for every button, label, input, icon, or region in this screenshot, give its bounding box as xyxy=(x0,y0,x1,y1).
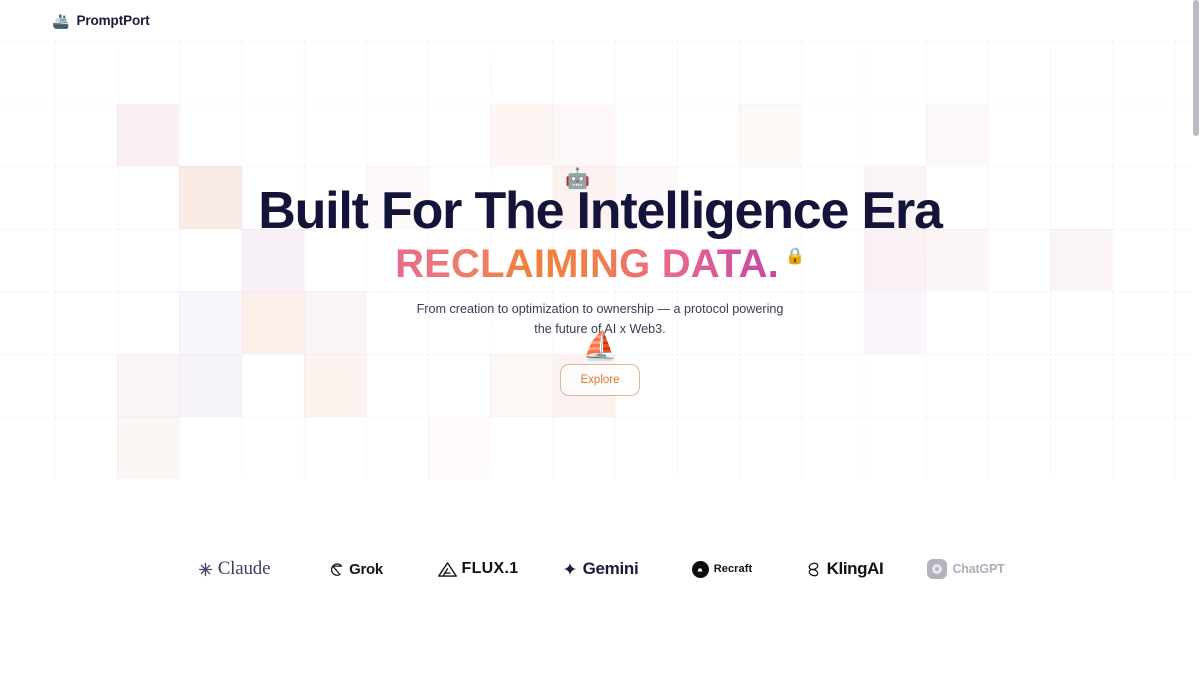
sailboat-icon: ⛵ xyxy=(583,332,618,360)
logo-label-kling: KlingAI xyxy=(827,559,884,579)
logo-label-chatgpt: ChatGPT xyxy=(952,562,1004,576)
page-subtitle-gradient: RECLAIMING DATA. xyxy=(395,243,779,285)
headline-primary-wrap: Built For The Intelligence Era 🤖 xyxy=(258,185,941,237)
robot-icon: 🤖 xyxy=(565,169,590,189)
site-header: 🚢 PromptPort xyxy=(0,0,1200,41)
gemini-sparkle-icon xyxy=(562,561,578,577)
scrollbar-thumb[interactable] xyxy=(1193,0,1199,136)
ship-icon: 🚢 xyxy=(52,14,69,28)
claude-starburst-icon xyxy=(198,562,213,577)
logo-label-gemini: Gemini xyxy=(583,559,639,579)
headline-secondary-wrap: RECLAIMING DATA. 🔒 xyxy=(395,243,805,285)
logo-item-gemini[interactable]: Gemini xyxy=(539,559,661,579)
logo-label-claude: Claude xyxy=(218,558,271,580)
recraft-circle-icon xyxy=(692,561,709,578)
kling-loop-icon xyxy=(805,561,822,578)
logo-label-grok: Grok xyxy=(349,561,383,578)
openai-knot-icon xyxy=(927,559,947,579)
logo-item-grok[interactable]: Grok xyxy=(295,561,417,578)
cta-wrap: ⛵ Explore xyxy=(560,364,640,396)
brand-name: PromptPort xyxy=(76,13,149,28)
logo-item-flux[interactable]: FLUX.1 xyxy=(417,560,539,578)
brand-logo-link[interactable]: 🚢 PromptPort xyxy=(52,13,150,28)
partner-logo-strip: Claude Grok FLUX.1 xyxy=(0,546,1200,592)
logo-item-claude[interactable]: Claude xyxy=(173,558,295,580)
page-root: 🚢 PromptPort Built For The Intelligence … xyxy=(0,0,1200,675)
lock-icon: 🔒 xyxy=(785,249,805,265)
explore-button[interactable]: Explore xyxy=(560,364,640,396)
page-title: Built For The Intelligence Era xyxy=(258,185,941,237)
grok-slash-circle-icon xyxy=(329,562,344,577)
flux-triangle-icon xyxy=(438,562,457,577)
logo-label-flux: FLUX.1 xyxy=(462,560,519,578)
logo-item-kling[interactable]: KlingAI xyxy=(783,559,905,579)
logo-item-chatgpt[interactable]: ChatGPT xyxy=(905,559,1027,579)
logo-item-recraft[interactable]: Recraft xyxy=(661,561,783,578)
logo-label-recraft: Recraft xyxy=(714,563,753,575)
